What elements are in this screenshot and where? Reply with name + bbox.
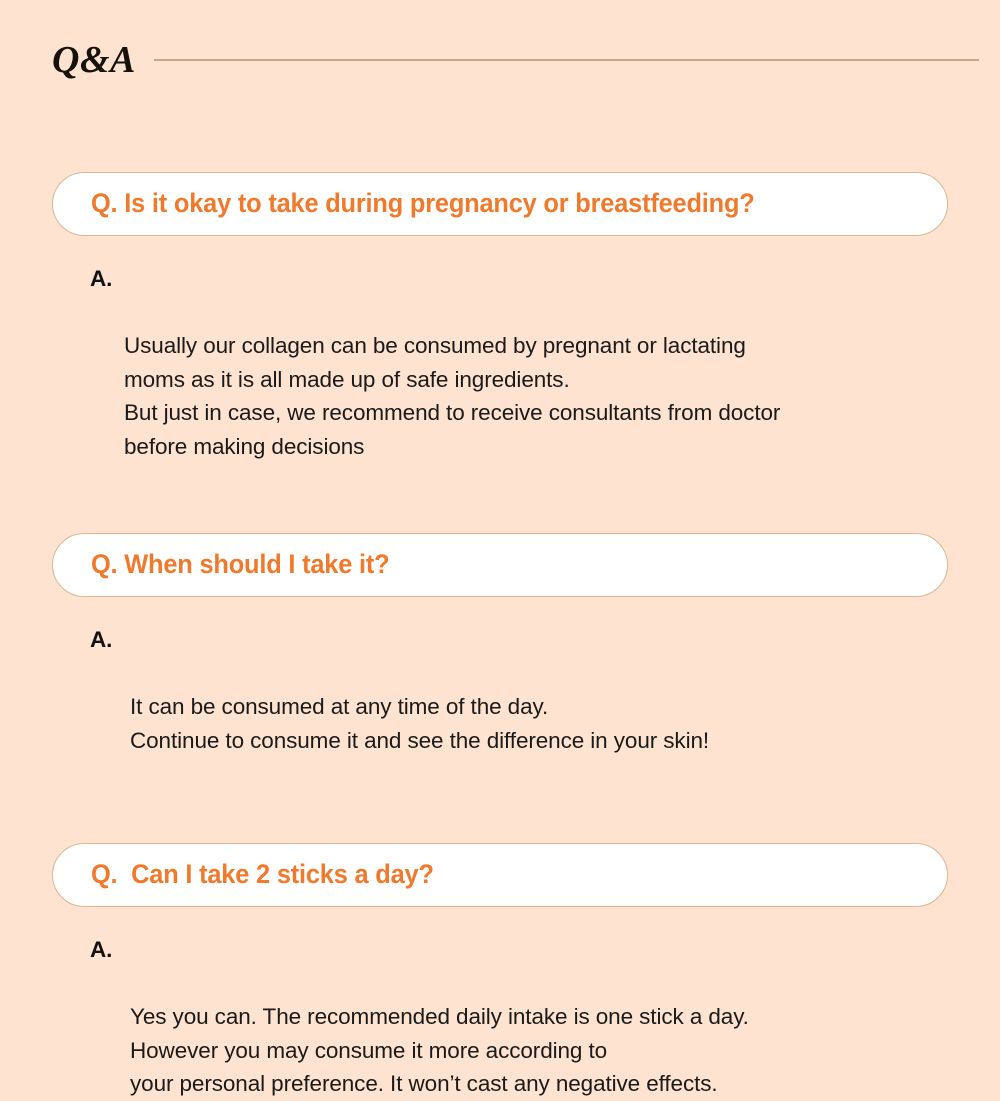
answer-marker: A. [90,262,112,296]
answer-block: A. Usually our collagen can be consumed … [90,262,1000,463]
qa-block: Q. Can I take 2 sticks a day? A. Yes you… [0,843,1000,1101]
qa-block: Q. When should I take it? A. It can be c… [0,533,1000,757]
answer-marker: A. [90,623,112,657]
block-spacer [0,463,1000,533]
question-text: Q. Is it okay to take during pregnancy o… [91,189,755,219]
answer-block: A. Yes you can. The recommended daily in… [90,933,1000,1101]
page-title: Q&A [52,41,136,79]
question-text: Q. Can I take 2 sticks a day? [91,860,434,890]
qa-page: Q&A Q. Is it okay to take during pregnan… [0,0,1000,1000]
answer-block: A. It can be consumed at any time of the… [90,623,1000,757]
answer-marker: A. [90,933,112,967]
qa-list: Q. Is it okay to take during pregnancy o… [0,172,1000,1101]
qa-block: Q. Is it okay to take during pregnancy o… [0,172,1000,463]
answer-text: It can be consumed at any time of the da… [130,694,709,753]
page-header: Q&A [0,30,1000,90]
answer-text: Yes you can. The recommended daily intak… [130,1004,749,1096]
question-text: Q. When should I take it? [91,550,389,580]
header-divider [154,59,979,61]
question-pill[interactable]: Q. When should I take it? [52,533,948,597]
question-pill[interactable]: Q. Can I take 2 sticks a day? [52,843,948,907]
block-spacer [0,757,1000,843]
answer-text: Usually our collagen can be consumed by … [124,333,780,459]
question-pill[interactable]: Q. Is it okay to take during pregnancy o… [52,172,948,236]
